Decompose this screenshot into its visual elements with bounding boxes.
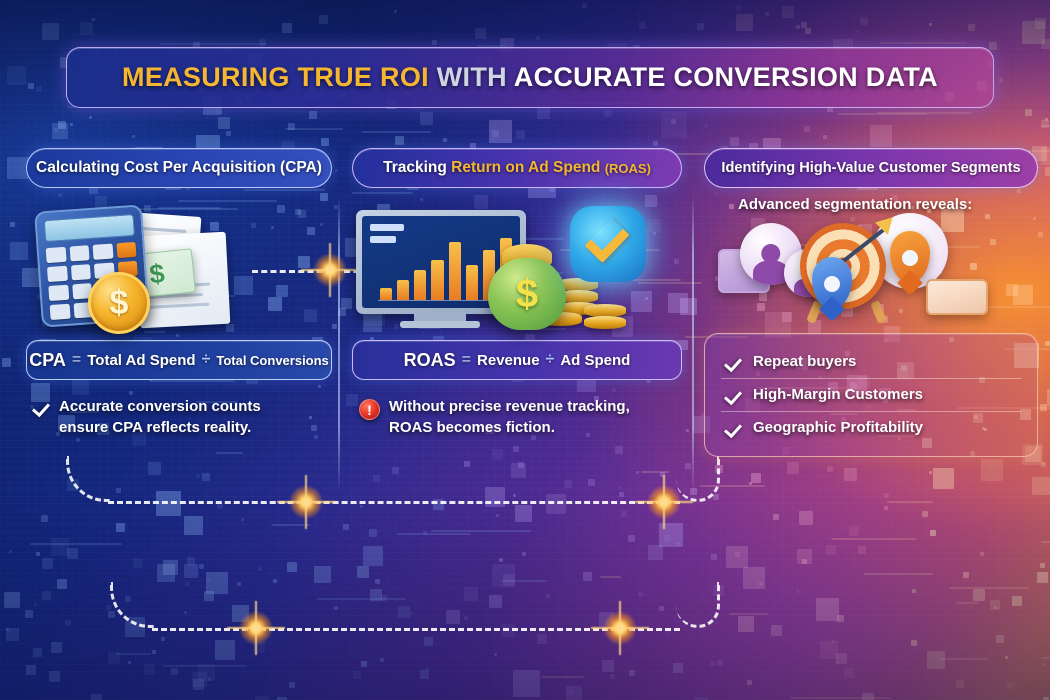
warning-icon: ! xyxy=(359,399,380,420)
formula-term-1: Total Ad Spend xyxy=(87,352,195,369)
illustration-cpa: $ $ xyxy=(26,200,332,340)
formula-term-2: Ad Spend xyxy=(560,352,630,369)
list-item[interactable]: High-Margin Customers xyxy=(721,378,1021,411)
note-line-2: ensure CPA reflects reality. xyxy=(59,419,251,436)
glowing-check-badge-icon xyxy=(570,206,646,282)
chart-bar xyxy=(397,280,409,300)
note-roas-text: Without precise revenue tracking, ROAS b… xyxy=(389,397,630,438)
chart-bar xyxy=(414,270,426,300)
formula-term-1: Revenue xyxy=(477,352,540,369)
connector-node-4 xyxy=(603,611,637,645)
note-roas: ! Without precise revenue tracking, ROAS… xyxy=(352,397,682,438)
divide-icon: ÷ xyxy=(202,351,211,369)
page-title: MEASURING TRUE ROI WITH ACCURATE CONVERS… xyxy=(122,62,938,93)
heading-part-3: (ROAS) xyxy=(605,161,651,176)
divide-icon: ÷ xyxy=(546,351,555,369)
illustration-roas: $ xyxy=(352,200,682,340)
formula-equals: = xyxy=(462,351,471,369)
segments-subtitle: Advanced segmentation reveals: xyxy=(704,196,1038,213)
connector-node-2 xyxy=(647,485,681,519)
connector-line-c xyxy=(108,501,680,504)
formula-roas: ROAS = Revenue ÷ Ad Spend xyxy=(352,340,682,380)
chart-bar xyxy=(466,265,478,300)
list-item-label: High-Margin Customers xyxy=(753,386,923,403)
list-item-label: Geographic Profitability xyxy=(753,419,923,436)
check-icon xyxy=(725,420,742,437)
check-icon xyxy=(33,399,50,416)
formula-key: ROAS xyxy=(404,350,456,371)
connector-curve-right-2 xyxy=(676,582,720,628)
title-banner: MEASURING TRUE ROI WITH ACCURATE CONVERS… xyxy=(66,47,994,108)
illustration-segments xyxy=(704,217,1038,325)
gold-coin-icon: $ xyxy=(88,272,150,334)
connector-node-3 xyxy=(239,611,273,645)
column-heading-segments: Identifying High-Value Customer Segments xyxy=(704,148,1038,188)
list-item-label: Repeat buyers xyxy=(753,353,856,370)
chart-bar xyxy=(431,260,443,300)
note-line-1: Accurate conversion counts xyxy=(59,398,261,415)
monitor-base xyxy=(400,321,480,328)
column-heading-roas: Tracking Return on Ad Spend (ROAS) xyxy=(352,148,682,188)
column-cpa: Calculating Cost Per Acquisition (CPA) $… xyxy=(26,148,332,438)
segments-checklist-panel: Repeat buyers High-Margin Customers Geog… xyxy=(704,333,1038,457)
formula-key: CPA xyxy=(29,350,66,371)
column-roas: Tracking Return on Ad Spend (ROAS) $ RO xyxy=(352,148,682,438)
check-icon xyxy=(725,387,742,404)
formula-cpa: CPA = Total Ad Spend ÷ Total Conversions xyxy=(26,340,332,380)
list-item[interactable]: Geographic Profitability xyxy=(721,411,1021,444)
list-item[interactable]: Repeat buyers xyxy=(721,346,1021,378)
heading-part-1: Tracking xyxy=(383,159,447,177)
note-line-1: Without precise revenue tracking, xyxy=(389,398,630,415)
column-segments: Identifying High-Value Customer Segments… xyxy=(704,148,1038,457)
money-bag-icon: $ xyxy=(488,258,566,330)
column-divider-1 xyxy=(338,196,340,492)
target-leg xyxy=(870,300,887,324)
title-part-gold: MEASURING TRUE ROI xyxy=(122,62,429,92)
formula-term-2: Total Conversions xyxy=(216,353,328,368)
title-part-white: ACCURATE CONVERSION DATA xyxy=(514,62,938,92)
heading-part-2: Return on Ad Spend xyxy=(451,159,600,177)
column-divider-2 xyxy=(692,196,694,492)
segment-card-orange xyxy=(926,279,988,315)
infographic-canvas: MEASURING TRUE ROI WITH ACCURATE CONVERS… xyxy=(0,0,1050,700)
connector-curve-right-1 xyxy=(676,456,720,502)
chart-bar xyxy=(449,242,461,300)
chart-bar xyxy=(380,288,392,300)
title-part-grey: WITH xyxy=(437,62,507,92)
connector-node-1 xyxy=(289,485,323,519)
note-cpa: Accurate conversion counts ensure CPA re… xyxy=(26,397,332,438)
note-cpa-text: Accurate conversion counts ensure CPA re… xyxy=(59,397,261,438)
check-icon xyxy=(725,354,742,371)
note-line-2: ROAS becomes fiction. xyxy=(389,419,555,436)
coin-stack-icon xyxy=(584,316,626,329)
formula-equals: = xyxy=(72,351,81,369)
column-heading-cpa: Calculating Cost Per Acquisition (CPA) xyxy=(26,148,332,188)
